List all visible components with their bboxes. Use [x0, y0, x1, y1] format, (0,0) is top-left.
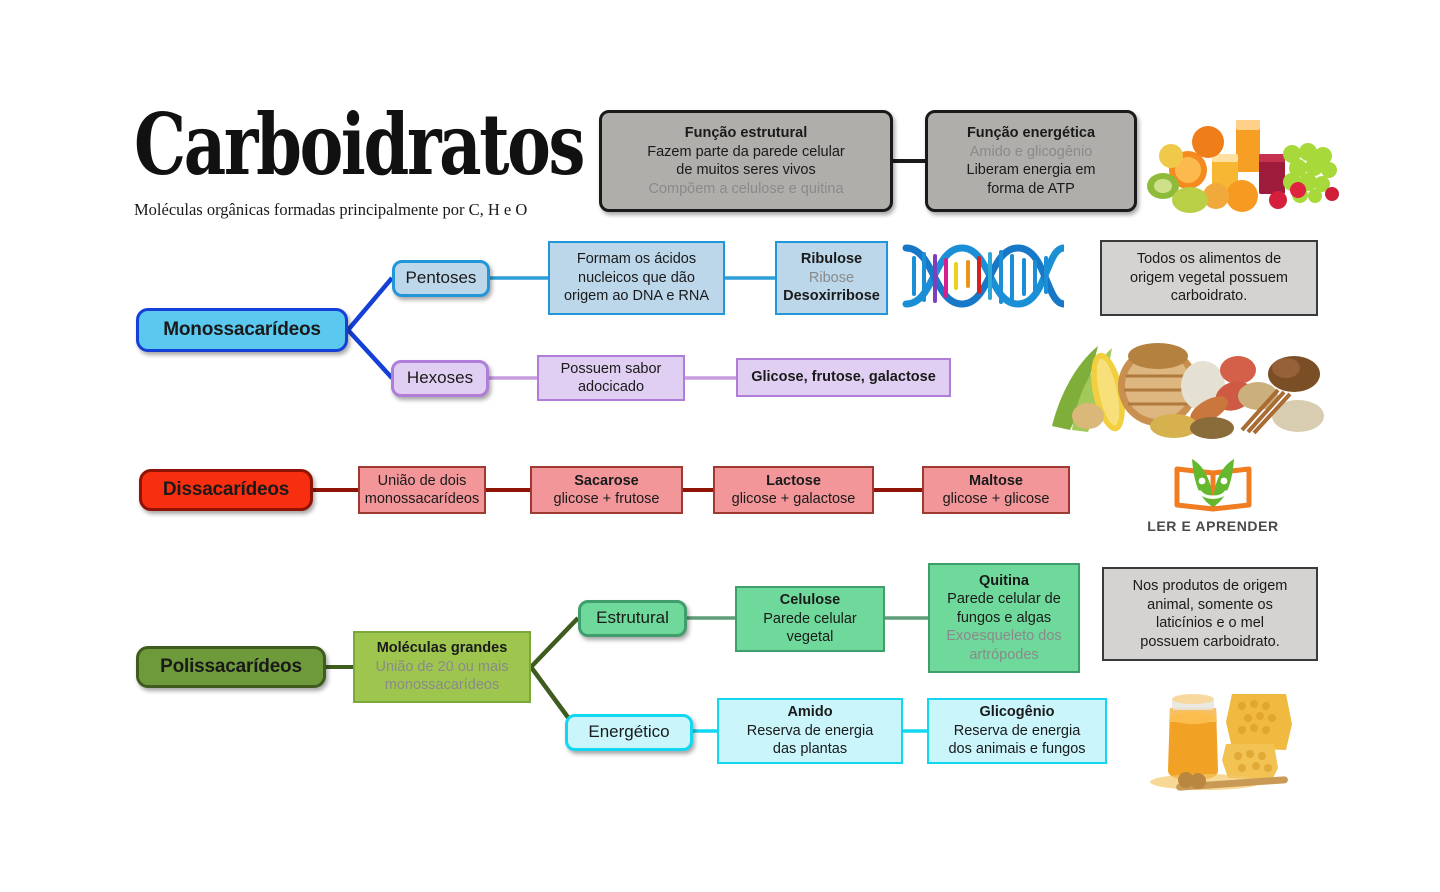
dissacarideos-header: Dissacarídeos: [139, 469, 313, 511]
amido-box: Amido Reserva de energia das plantas: [717, 698, 903, 764]
polissacarideos-label: Polissacarídeos: [160, 658, 302, 677]
glicogenio-line2: dos animais e fungos: [948, 740, 1085, 759]
note-animal-line4: possuem carboidrato.: [1140, 633, 1279, 652]
funcao-estrutural-line1: Fazem parte da parede celular: [647, 143, 844, 162]
pentoses-label: Pentoses: [406, 269, 477, 288]
glicogenio-line1: Reserva de energia: [954, 722, 1081, 741]
dissacarideos-label: Dissacarídeos: [163, 481, 289, 500]
dna-double-helix-illustration: [898, 232, 1064, 320]
quitina-line3: Exoesqueleto dos: [946, 627, 1061, 646]
sacarose-box: Sacarose glicose + frutose: [530, 466, 683, 514]
polissacarideos-def-line2: União de 20 ou mais: [376, 658, 509, 677]
maltose-box: Maltose glicose + glicose: [922, 466, 1070, 514]
energetico-label: Energético: [588, 723, 669, 742]
pentoses-detail-line3: origem ao DNA e RNA: [564, 287, 709, 306]
pentoses-example-2: Ribose: [809, 269, 854, 288]
note-vegetal-line3: carboidrato.: [1171, 287, 1248, 306]
pentoses-examples-box: Ribulose Ribose Desoxirribose: [775, 241, 888, 315]
dissacarideos-def-line1: União de dois: [378, 472, 467, 491]
celulose-title: Celulose: [780, 591, 840, 610]
pentoses-example-1: Ribulose: [801, 250, 862, 269]
monossacarideos-header: Monossacarídeos: [136, 308, 348, 352]
funcao-energetica-box: Função energética Amido e glicogênio Lib…: [925, 110, 1137, 212]
polissacarideos-def-line1: Moléculas grandes: [377, 639, 508, 658]
hexoses-node: Hexoses: [391, 360, 489, 397]
amido-line1: Reserva de energia: [747, 722, 874, 741]
funcao-energetica-title: Função energética: [967, 124, 1095, 143]
fruits-and-juices-photo: [1146, 108, 1342, 216]
funcao-energetica-line2: Liberam energia em: [967, 161, 1096, 180]
note-animal-line1: Nos produtos de origem: [1133, 577, 1288, 596]
note-animal-line2: animal, somente os: [1147, 596, 1273, 615]
hexoses-detail-line1: Possuem sabor: [561, 360, 662, 379]
page-title: Carboidratos: [134, 103, 583, 187]
amido-line2: das plantas: [773, 740, 847, 759]
polissacarideos-header: Polissacarídeos: [136, 646, 326, 688]
funcao-estrutural-box: Função estrutural Fazem parte da parede …: [599, 110, 893, 212]
note-vegetal-line2: origem vegetal possuem: [1130, 269, 1288, 288]
logo-text: LER E APRENDER: [1143, 518, 1283, 534]
quitina-line2: fungos e algas: [957, 609, 1051, 628]
hexoses-examples: Glicose, frutose, galactose: [751, 368, 936, 387]
dissacarideos-definition-box: União de dois monossacarídeos: [358, 466, 486, 514]
quitina-box: Quitina Parede celular de fungos e algas…: [928, 563, 1080, 673]
sacarose-composition: glicose + frutose: [554, 490, 660, 509]
dissacarideos-def-line2: monossacarídeos: [365, 490, 479, 509]
carbohydrate-foods-photo: [1046, 334, 1324, 440]
hexoses-detail-line2: adocicado: [578, 378, 644, 397]
estrutural-node: Estrutural: [578, 600, 687, 637]
quitina-line4: artrópodes: [969, 646, 1038, 665]
pentoses-example-3: Desoxirribose: [783, 287, 880, 306]
funcao-estrutural-line3: Compõem a celulose e quitina: [648, 180, 843, 199]
celulose-box: Celulose Parede celular vegetal: [735, 586, 885, 652]
glicogenio-box: Glicogênio Reserva de energia dos animai…: [927, 698, 1107, 764]
note-animal: Nos produtos de origem animal, somente o…: [1102, 567, 1318, 661]
monossacarideos-label: Monossacarídeos: [163, 321, 321, 340]
maltose-composition: glicose + glicose: [943, 490, 1050, 509]
ler-e-aprender-logo-icon: [1172, 455, 1254, 513]
funcao-energetica-line3: forma de ATP: [987, 180, 1075, 199]
honey-jar-photo: [1136, 688, 1316, 792]
page-subtitle: Moléculas orgânicas formadas principalme…: [134, 200, 527, 220]
quitina-line1: Parede celular de: [947, 590, 1061, 609]
celulose-line2: vegetal: [787, 628, 834, 647]
note-vegetal-line1: Todos os alimentos de: [1137, 250, 1281, 269]
quitina-title: Quitina: [979, 572, 1029, 591]
hexoses-label: Hexoses: [407, 369, 473, 388]
infographic-canvas: Carboidratos Moléculas orgânicas formada…: [0, 0, 1440, 892]
lactose-title: Lactose: [766, 472, 821, 491]
maltose-title: Maltose: [969, 472, 1023, 491]
pentoses-detail-box: Formam os ácidos nucleicos que dão orige…: [548, 241, 725, 315]
polissacarideos-definition-box: Moléculas grandes União de 20 ou mais mo…: [353, 631, 531, 703]
note-animal-line3: laticínios e o mel: [1156, 614, 1264, 633]
polissacarideos-def-line3: monossacarídeos: [385, 676, 499, 695]
note-vegetal: Todos os alimentos de origem vegetal pos…: [1100, 240, 1318, 316]
pentoses-node: Pentoses: [392, 260, 490, 297]
pentoses-detail-line1: Formam os ácidos: [577, 250, 696, 269]
lactose-composition: glicose + galactose: [732, 490, 856, 509]
sacarose-title: Sacarose: [574, 472, 639, 491]
funcao-estrutural-line2: de muitos seres vivos: [676, 161, 815, 180]
amido-title: Amido: [787, 703, 832, 722]
funcao-estrutural-title: Função estrutural: [685, 124, 807, 143]
glicogenio-title: Glicogênio: [980, 703, 1055, 722]
estrutural-label: Estrutural: [596, 609, 669, 628]
hexoses-examples-box: Glicose, frutose, galactose: [736, 358, 951, 397]
hexoses-detail-box: Possuem sabor adocicado: [537, 355, 685, 401]
funcao-energetica-line1: Amido e glicogênio: [970, 143, 1093, 162]
pentoses-detail-line2: nucleicos que dão: [578, 269, 695, 288]
celulose-line1: Parede celular: [763, 610, 857, 629]
energetico-node: Energético: [565, 714, 693, 751]
lactose-box: Lactose glicose + galactose: [713, 466, 874, 514]
